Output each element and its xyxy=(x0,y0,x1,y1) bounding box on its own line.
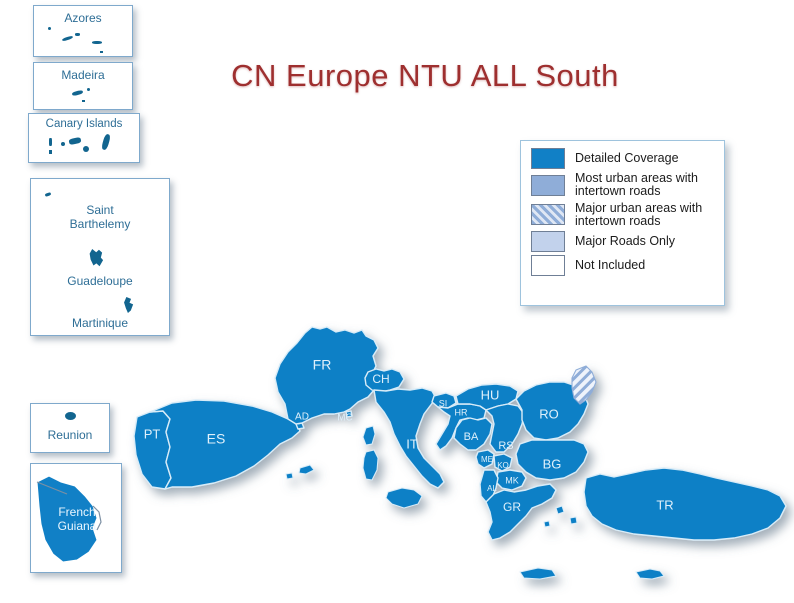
country-al xyxy=(480,470,498,502)
legend-item-detailed-coverage: Detailed Coverage xyxy=(531,148,716,169)
legend-label-not-included: Not Included xyxy=(575,259,645,272)
legend-swatch-not-included xyxy=(531,255,565,276)
country-label-it: IT xyxy=(406,436,418,451)
inset-madeira-label: Madeira xyxy=(34,68,132,82)
inset-reunion-label: Reunion xyxy=(31,428,109,442)
country-label-me: ME xyxy=(481,455,493,464)
country-tr xyxy=(584,468,786,540)
canary-isle-5 xyxy=(83,146,89,152)
country-label-ro: RO xyxy=(539,406,559,421)
madeira-isle-1 xyxy=(72,90,84,97)
island-sardinia xyxy=(363,450,378,480)
island-greek-aegean-1 xyxy=(556,506,564,514)
country-label-ch: CH xyxy=(372,372,389,386)
country-label-hr: HR xyxy=(455,407,468,417)
inset-saint-barthelemy-label-2: Barthelemy xyxy=(31,217,169,231)
country-label-group: PTESFRCHADMCITSIHRHUBARSROMEKOMKALBGGRTR xyxy=(144,357,674,514)
inset-french-guiana: French Guiana xyxy=(30,463,122,573)
legend-label-most-urban: Most urban areas with intertown roads xyxy=(575,172,716,199)
country-label-hu: HU xyxy=(481,387,500,402)
legend-item-major-urban: Major urban areas with intertown roads xyxy=(531,202,716,229)
inset-canary-label: Canary Islands xyxy=(29,118,139,130)
country-label-fr: FR xyxy=(313,357,332,373)
country-label-ko: KO xyxy=(497,461,509,470)
country-hr xyxy=(436,404,486,450)
inset-french-guiana-label-2: Guiana xyxy=(58,519,97,533)
country-mk xyxy=(496,470,526,490)
island-greek-aegean-3 xyxy=(544,521,550,527)
azores-isle-3 xyxy=(75,33,80,36)
legend-swatch-major-urban xyxy=(531,204,565,225)
country-gr xyxy=(486,484,556,540)
reunion-isle xyxy=(65,412,76,420)
country-md-hatched xyxy=(572,366,596,404)
country-label-al: AL xyxy=(487,484,497,493)
island-ibiza xyxy=(286,473,293,479)
legend-item-not-included: Not Included xyxy=(531,255,716,276)
island-greek-aegean-2 xyxy=(570,517,577,524)
azores-isle-2 xyxy=(62,35,73,41)
canary-isle-4 xyxy=(69,137,82,145)
legend-label-major-roads: Major Roads Only xyxy=(575,235,675,248)
country-me xyxy=(476,450,494,468)
inset-french-guiana-label-1: French xyxy=(58,505,95,519)
canary-isle-3 xyxy=(61,142,65,146)
country-label-bg: BG xyxy=(543,456,562,471)
inset-guadeloupe-label: Guadeloupe xyxy=(31,274,169,288)
country-es xyxy=(150,400,300,489)
map-canvas: CN Europe NTU ALL South xyxy=(0,0,794,603)
country-rs xyxy=(486,404,524,452)
island-corsica xyxy=(363,426,375,445)
legend-swatch-detailed-coverage xyxy=(531,148,565,169)
island-balearics xyxy=(299,465,314,474)
canary-isle-1 xyxy=(49,138,52,146)
azores-isle-4 xyxy=(92,41,102,44)
country-label-mk: MK xyxy=(505,475,519,485)
azores-isle-5 xyxy=(100,51,103,53)
country-label-mc: MC xyxy=(337,413,353,424)
country-label-es: ES xyxy=(207,431,226,447)
country-label-ba: BA xyxy=(464,431,479,443)
inset-saint-barthelemy-label-1: Saint xyxy=(31,203,169,217)
martinique-isle xyxy=(123,297,136,313)
inset-azores: Azores xyxy=(33,5,133,57)
island-crete xyxy=(520,568,556,579)
country-label-pt: PT xyxy=(144,426,161,441)
country-label-tr: TR xyxy=(656,497,673,512)
country-label-gr: GR xyxy=(503,500,521,514)
country-ad xyxy=(296,423,304,429)
legend-item-most-urban: Most urban areas with intertown roads xyxy=(531,172,716,199)
inset-reunion: Reunion xyxy=(30,403,110,453)
page-title: CN Europe NTU ALL South xyxy=(200,58,650,94)
inset-madeira: Madeira xyxy=(33,62,133,110)
island-sicily xyxy=(386,488,422,508)
inset-martinique-label: Martinique xyxy=(31,316,169,330)
canary-isle-2 xyxy=(49,150,52,154)
country-ro xyxy=(516,382,588,440)
country-ko xyxy=(494,454,512,471)
legend-swatch-most-urban xyxy=(531,175,565,196)
country-label-si: SI xyxy=(439,398,448,408)
country-pt xyxy=(134,411,171,489)
legend-swatch-major-roads xyxy=(531,231,565,252)
country-label-rs: RS xyxy=(498,440,513,452)
canary-isle-6 xyxy=(101,133,111,150)
legend-item-major-roads: Major Roads Only xyxy=(531,231,716,252)
azores-isle-1 xyxy=(48,27,51,30)
country-bg xyxy=(516,440,588,480)
saint-barthelemy-isle xyxy=(45,192,52,197)
country-hu xyxy=(456,384,518,410)
legend-panel: Detailed Coverage Most urban areas with … xyxy=(520,140,725,306)
guadeloupe-isle xyxy=(89,249,105,267)
madeira-isle-2 xyxy=(87,88,90,91)
inset-canary-islands: Canary Islands xyxy=(28,113,140,163)
legend-label-major-urban: Major urban areas with intertown roads xyxy=(575,202,716,229)
country-mc xyxy=(346,411,352,417)
inset-azores-label: Azores xyxy=(34,11,132,25)
inset-french-antilles: Saint Barthelemy Guadeloupe Martinique xyxy=(30,178,170,336)
country-fr xyxy=(275,327,378,424)
country-ba xyxy=(454,418,492,450)
madeira-isle-3 xyxy=(82,100,85,102)
country-it xyxy=(374,388,444,488)
country-label-ad: AD xyxy=(295,412,309,423)
country-ch xyxy=(365,369,404,392)
island-cyprus xyxy=(636,569,664,579)
country-si xyxy=(432,393,456,408)
legend-label-detailed-coverage: Detailed Coverage xyxy=(575,152,679,165)
french-guiana-shape: French Guiana xyxy=(31,464,121,572)
